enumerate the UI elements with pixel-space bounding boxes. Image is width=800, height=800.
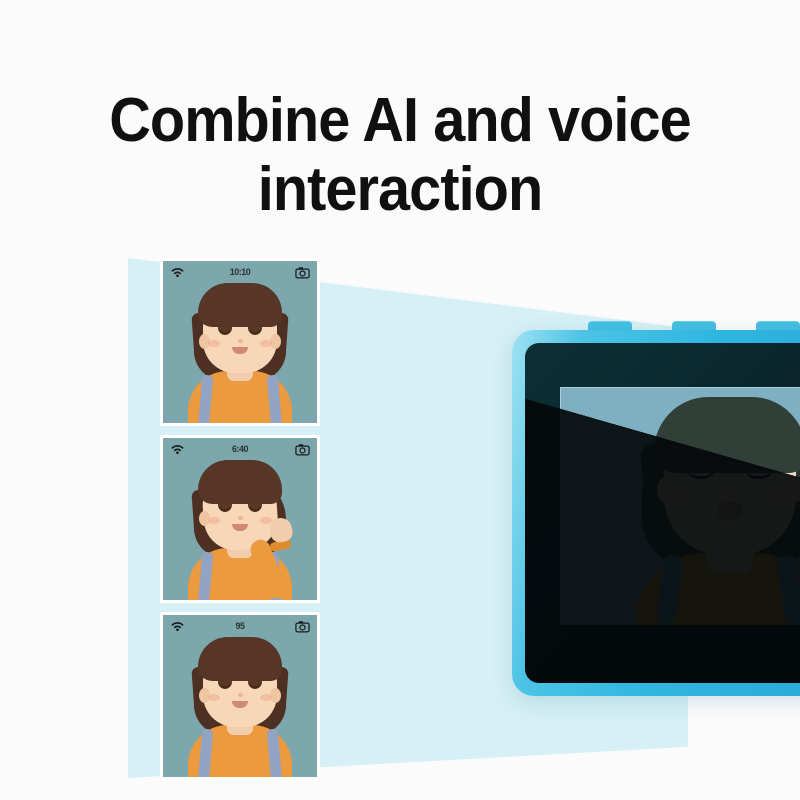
thumbnail-status-bar: 95 <box>163 615 317 637</box>
thumbnail-status-bar: 6:40 <box>163 438 317 460</box>
screenshot-thumbnail-list: 10:10 <box>160 258 320 780</box>
cartoon-girl-illustration <box>163 273 317 423</box>
thumbnail-photo <box>163 438 317 600</box>
wifi-icon <box>170 443 185 456</box>
status-time: 95 <box>235 621 244 631</box>
thumbnail-photo <box>163 261 317 423</box>
poster-canvas: Combine AI and voice interaction <box>0 0 800 800</box>
cartoon-girl-illustration <box>163 627 317 777</box>
status-time: 10:10 <box>230 267 251 277</box>
camera-icon[interactable] <box>295 266 310 279</box>
thumbnail-status-bar: 10:10 <box>163 261 317 283</box>
tablet-screen[interactable] <box>525 343 800 683</box>
wifi-icon <box>170 266 185 279</box>
cartoon-girl-speaking-illustration <box>580 387 800 625</box>
headline-line-2: interaction <box>28 155 772 224</box>
tablet-bezel <box>512 330 800 696</box>
screenshot-thumbnail[interactable]: 10:10 <box>160 258 320 426</box>
page-title: Combine AI and voice interaction <box>28 86 772 225</box>
screenshot-thumbnail[interactable]: 6:40 <box>160 435 320 603</box>
camera-icon[interactable] <box>295 443 310 456</box>
wifi-icon <box>170 620 185 633</box>
status-time: 6:40 <box>232 444 248 454</box>
tablet-screen-content <box>560 387 800 625</box>
screenshot-thumbnail[interactable]: 95 <box>160 612 320 780</box>
camera-icon[interactable] <box>295 620 310 633</box>
tablet-device[interactable] <box>512 330 800 696</box>
cartoon-girl-illustration <box>163 450 317 600</box>
thumbnail-photo <box>163 615 317 777</box>
headline-line-1: Combine AI and voice <box>28 86 772 155</box>
